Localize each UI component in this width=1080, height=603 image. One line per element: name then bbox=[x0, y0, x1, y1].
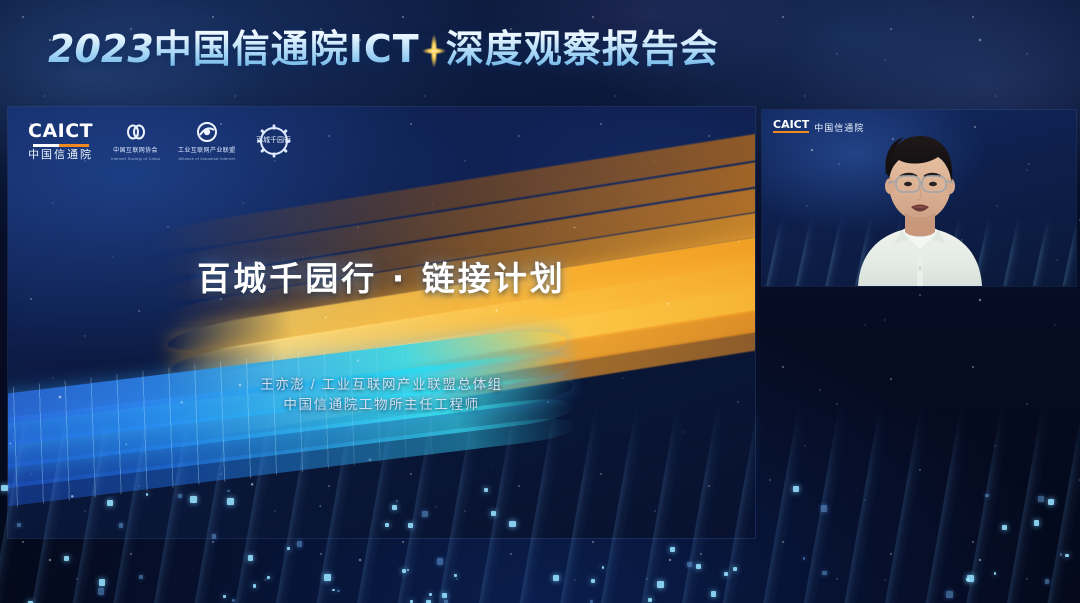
particle-square bbox=[591, 579, 595, 583]
particle-square bbox=[946, 591, 953, 598]
particle-square bbox=[648, 598, 652, 602]
particle-square bbox=[248, 555, 254, 561]
particle-square bbox=[429, 593, 432, 596]
baicheng-gear-label: 百城千园行 bbox=[256, 137, 291, 144]
particle-square bbox=[287, 547, 290, 550]
cyan-ribbon-graphic bbox=[8, 320, 547, 538]
event-header: 2023中国信通院ICT深度观察报告会 bbox=[0, 0, 1080, 100]
particle-square bbox=[602, 566, 605, 569]
particle-square bbox=[733, 567, 738, 572]
particle-square bbox=[793, 486, 799, 492]
particle-square bbox=[1060, 553, 1062, 555]
particle-square bbox=[1045, 579, 1050, 584]
cyan-ribbon-sparkles bbox=[8, 320, 547, 538]
aii-logo: 工业互联网产业联盟 Alliance of Industrial Interne… bbox=[178, 121, 236, 161]
slide-title: 百城千园行 · 链接计划 bbox=[8, 252, 755, 300]
particle-square bbox=[402, 569, 406, 573]
video-watermark: CAICT 中国信通院 bbox=[773, 119, 864, 133]
video-watermark-mark: CAICT bbox=[773, 119, 809, 133]
particle-square bbox=[1038, 496, 1044, 502]
caict-logo-mark: CAICT bbox=[28, 122, 93, 141]
particle-square bbox=[139, 575, 143, 579]
particle-square bbox=[821, 505, 828, 512]
particle-square bbox=[1065, 554, 1069, 558]
particle-square bbox=[232, 599, 235, 602]
particle-square bbox=[696, 564, 701, 569]
isc-logo-icon bbox=[125, 121, 147, 143]
particle-square bbox=[324, 574, 331, 581]
particle-square bbox=[966, 578, 969, 581]
particle-square bbox=[442, 593, 447, 598]
particle-square bbox=[223, 595, 226, 598]
particle-square bbox=[985, 494, 989, 498]
particle-square bbox=[1048, 499, 1054, 505]
event-title-after: 深度观察报告会 bbox=[446, 27, 719, 71]
particle-square bbox=[1034, 520, 1039, 525]
presentation-slide[interactable]: CAICT 中国信通院 中国互联网协会 Internet Society of … bbox=[8, 107, 755, 538]
particle-square bbox=[553, 575, 559, 581]
caict-logo-label: 中国信通院 bbox=[28, 150, 93, 161]
isc-logo-sublabel: Internet Society of China bbox=[111, 156, 160, 161]
particle-square bbox=[332, 589, 335, 592]
particle-square bbox=[822, 571, 826, 575]
broadcast-stage: 2023中国信通院ICT深度观察报告会 bbox=[0, 0, 1080, 603]
aii-logo-icon bbox=[196, 121, 218, 143]
particle-square bbox=[657, 581, 664, 588]
particle-square bbox=[1002, 525, 1007, 530]
particle-square bbox=[99, 579, 105, 585]
aii-logo-label: 工业互联网产业联盟 bbox=[178, 145, 236, 154]
caict-logo-rule bbox=[33, 144, 89, 147]
particle-square bbox=[711, 591, 717, 597]
event-title: 2023中国信通院ICT深度观察报告会 bbox=[48, 18, 719, 73]
isc-logo-label: 中国互联网协会 bbox=[113, 145, 158, 154]
particle-square bbox=[994, 572, 997, 575]
isc-logo: 中国互联网协会 Internet Society of China bbox=[111, 121, 160, 161]
particle-square bbox=[1, 485, 7, 491]
particle-square bbox=[590, 600, 593, 603]
event-title-year: 2023 bbox=[48, 27, 154, 71]
caict-logo: CAICT 中国信通院 bbox=[28, 122, 93, 161]
slide-starfield bbox=[8, 107, 755, 538]
particle-square bbox=[253, 584, 257, 588]
slide-logo-bar: CAICT 中国信通院 中国互联网协会 Internet Society of … bbox=[28, 121, 294, 161]
video-watermark-label: 中国信通院 bbox=[814, 124, 864, 133]
slide-presenter-block: 王亦澎 / 工业互联网产业联盟总体组 中国信通院工物所主任工程师 bbox=[8, 375, 755, 415]
particle-square bbox=[724, 572, 728, 576]
particle-square bbox=[407, 569, 409, 571]
aii-logo-sublabel: Alliance of Industrial Internet bbox=[178, 156, 235, 161]
particle-square bbox=[64, 556, 68, 560]
presenter-title: 中国信通院工物所主任工程师 bbox=[8, 395, 755, 415]
speaker-figure bbox=[762, 110, 1076, 286]
particle-square bbox=[437, 558, 443, 564]
particle-square bbox=[98, 588, 104, 594]
event-title-before: 中国信通院ICT bbox=[154, 27, 420, 71]
baicheng-gear-logo: 百城千园行 bbox=[254, 121, 294, 161]
particle-square bbox=[967, 575, 974, 582]
particle-square bbox=[670, 547, 675, 552]
particle-square bbox=[267, 576, 270, 579]
particle-square bbox=[687, 562, 692, 567]
presenter-name-affiliation: 王亦澎 / 工业互联网产业联盟总体组 bbox=[8, 375, 755, 395]
particle-square bbox=[337, 590, 340, 593]
cyan-ribbon-gridlines bbox=[8, 331, 480, 518]
sparkle-star-icon bbox=[421, 34, 447, 68]
particle-square bbox=[297, 541, 303, 547]
speaker-video-panel[interactable]: CAICT 中国信通院 bbox=[762, 110, 1076, 286]
particle-square bbox=[454, 574, 457, 577]
particle-square bbox=[803, 557, 805, 559]
